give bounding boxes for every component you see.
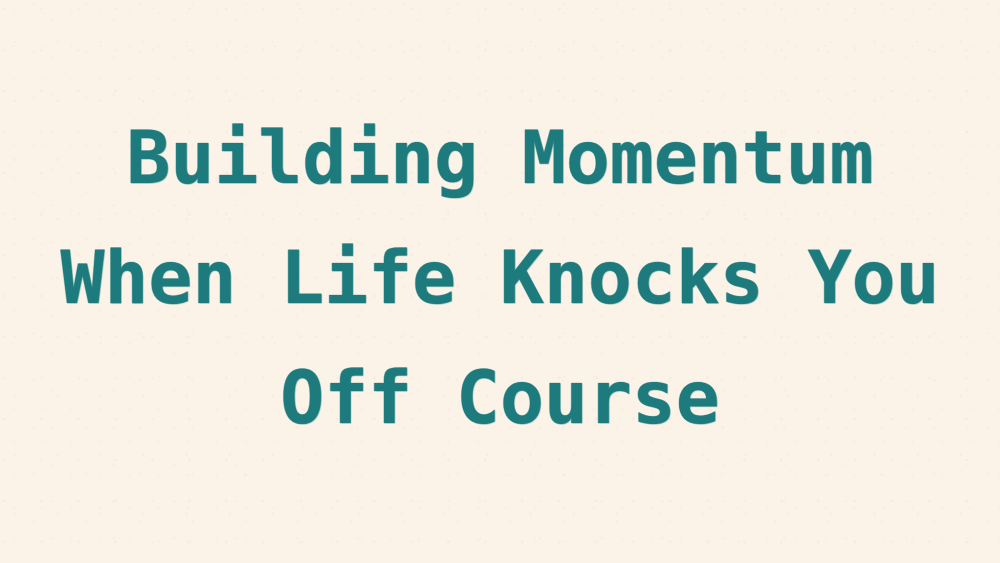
title-line-2: When Life Knocks You: [61, 219, 940, 339]
title-card: Building Momentum When Life Knocks You O…: [0, 0, 1000, 563]
title-line-1: Building Momentum: [61, 99, 940, 219]
page-title: Building Momentum When Life Knocks You O…: [61, 99, 940, 465]
title-line-3: Off Course: [61, 339, 940, 459]
